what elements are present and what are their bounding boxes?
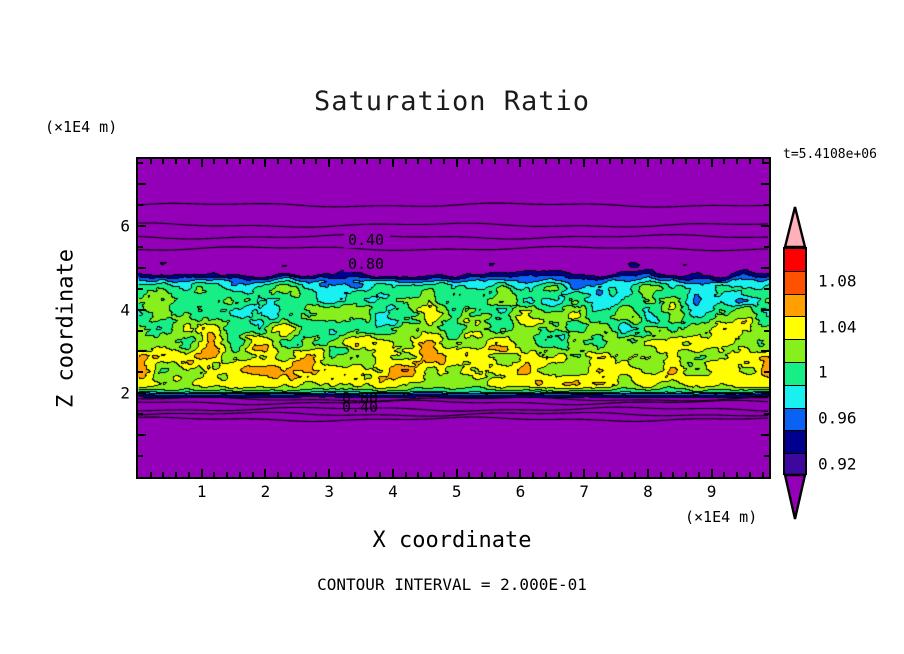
x-axis-tick bbox=[341, 472, 343, 477]
x-axis-tick bbox=[749, 159, 751, 164]
colorbar-under-arrow-icon bbox=[783, 473, 807, 521]
x-axis-tick bbox=[252, 472, 254, 477]
x-axis-tick bbox=[417, 472, 419, 477]
y-axis-tick bbox=[761, 183, 769, 185]
y-axis-title: Z coordinate bbox=[54, 219, 79, 439]
y-tick-label: 6 bbox=[112, 216, 130, 235]
x-axis-tick bbox=[379, 159, 381, 164]
x-axis-tick bbox=[239, 472, 241, 477]
x-axis-tick bbox=[519, 159, 521, 167]
x-axis-tick bbox=[290, 159, 292, 164]
x-axis-tick bbox=[494, 472, 496, 477]
y-axis-tick bbox=[761, 434, 769, 436]
y-axis-tick bbox=[761, 350, 769, 352]
y-axis-tick bbox=[764, 246, 769, 248]
x-axis-tick bbox=[366, 159, 368, 164]
x-axis-tick bbox=[583, 469, 585, 477]
x-axis-tick bbox=[736, 159, 738, 164]
colorbar-tick-label: 1.04 bbox=[818, 317, 857, 336]
colorbar-tick-label: 1.08 bbox=[818, 272, 857, 291]
x-axis-tick bbox=[213, 159, 215, 164]
x-axis-tick bbox=[328, 159, 330, 167]
x-axis-tick bbox=[456, 159, 458, 167]
colorbar-band bbox=[785, 295, 805, 318]
x-axis-tick bbox=[392, 469, 394, 477]
y-axis-tick bbox=[764, 413, 769, 415]
page-title: Saturation Ratio bbox=[0, 86, 904, 117]
colorbar[interactable]: 1.081.0410.960.92 bbox=[782, 205, 902, 525]
y-tick-label: 4 bbox=[112, 300, 130, 319]
x-axis-tick bbox=[609, 159, 611, 164]
colorbar-band bbox=[785, 272, 805, 295]
x-axis-tick bbox=[392, 159, 394, 167]
x-axis-tick bbox=[609, 472, 611, 477]
x-axis-tick bbox=[481, 472, 483, 477]
x-axis-tick bbox=[290, 472, 292, 477]
x-axis-tick bbox=[303, 472, 305, 477]
y-axis-tick bbox=[138, 288, 143, 290]
x-axis-tick bbox=[672, 159, 674, 164]
contour-value-label: 0.40 bbox=[348, 231, 384, 249]
x-axis-tick bbox=[723, 472, 725, 477]
y-axis-tick bbox=[764, 288, 769, 290]
colorbar-tick-label: 1 bbox=[818, 363, 828, 382]
x-tick-label: 2 bbox=[261, 482, 271, 501]
y-axis-tick bbox=[138, 267, 146, 269]
x-axis-tick bbox=[621, 159, 623, 164]
x-axis-tick bbox=[596, 159, 598, 164]
contour-plot-area[interactable] bbox=[136, 157, 771, 479]
colorbar-bands[interactable] bbox=[783, 247, 807, 475]
x-axis-tick bbox=[481, 159, 483, 164]
x-axis-tick bbox=[315, 472, 317, 477]
x-axis-tick bbox=[162, 472, 164, 477]
time-stamp-label: t=5.4108e+06 bbox=[783, 147, 877, 162]
x-axis-tick bbox=[315, 159, 317, 164]
x-axis-tick bbox=[213, 472, 215, 477]
x-axis-title: X coordinate bbox=[0, 528, 904, 553]
x-axis-tick bbox=[405, 159, 407, 164]
y-axis-tick bbox=[138, 330, 143, 332]
y-axis-tick bbox=[138, 413, 143, 415]
x-axis-tick bbox=[545, 472, 547, 477]
colorbar-tick-label: 0.96 bbox=[818, 409, 857, 428]
x-axis-tick bbox=[188, 472, 190, 477]
x-axis-tick bbox=[150, 159, 152, 164]
y-axis-tick bbox=[764, 330, 769, 332]
x-axis-tick bbox=[698, 159, 700, 164]
y-axis-tick bbox=[761, 267, 769, 269]
x-axis-tick bbox=[507, 159, 509, 164]
x-axis-tick bbox=[277, 472, 279, 477]
y-axis-tick bbox=[138, 204, 143, 206]
x-tick-label: 8 bbox=[643, 482, 653, 501]
x-axis-tick bbox=[175, 159, 177, 164]
contour-field-canvas bbox=[138, 159, 769, 477]
x-axis-tick bbox=[162, 159, 164, 164]
x-axis-tick bbox=[634, 472, 636, 477]
x-axis-tick bbox=[443, 472, 445, 477]
y-axis-tick bbox=[138, 455, 143, 457]
x-axis-tick bbox=[507, 472, 509, 477]
y-axis-tick bbox=[138, 225, 146, 227]
colorbar-band bbox=[785, 386, 805, 409]
x-axis-tick bbox=[366, 472, 368, 477]
x-axis-tick bbox=[354, 159, 356, 164]
x-axis-tick bbox=[647, 159, 649, 167]
colorbar-band bbox=[785, 249, 805, 272]
x-axis-tick bbox=[188, 159, 190, 164]
x-axis-tick bbox=[252, 159, 254, 164]
x-axis-tick bbox=[762, 472, 764, 477]
x-axis-tick bbox=[647, 469, 649, 477]
colorbar-band bbox=[785, 363, 805, 386]
x-axis-tick bbox=[443, 159, 445, 164]
x-axis-tick bbox=[379, 472, 381, 477]
x-tick-label: 4 bbox=[388, 482, 398, 501]
y-axis-tick bbox=[138, 350, 146, 352]
y-axis-tick bbox=[764, 371, 769, 373]
colorbar-band bbox=[785, 317, 805, 340]
x-axis-tick bbox=[570, 159, 572, 164]
x-axis-tick bbox=[303, 159, 305, 164]
x-axis-tick bbox=[226, 472, 228, 477]
contour-value-label: 0.40 bbox=[342, 398, 378, 416]
x-axis-tick bbox=[634, 159, 636, 164]
y-axis-tick bbox=[138, 162, 143, 164]
y-axis-tick bbox=[761, 225, 769, 227]
x-axis-tick bbox=[685, 472, 687, 477]
x-axis-tick bbox=[239, 159, 241, 164]
x-axis-tick bbox=[749, 472, 751, 477]
x-axis-tick bbox=[264, 159, 266, 167]
x-axis-tick bbox=[596, 472, 598, 477]
contour-interval-caption: CONTOUR INTERVAL = 2.000E-01 bbox=[0, 575, 904, 594]
y-axis-tick bbox=[138, 183, 146, 185]
x-axis-tick bbox=[660, 472, 662, 477]
x-axis-tick bbox=[201, 159, 203, 167]
y-axis-tick bbox=[761, 392, 769, 394]
x-axis-tick bbox=[430, 472, 432, 477]
x-axis-tick bbox=[468, 159, 470, 164]
x-axis-tick bbox=[698, 472, 700, 477]
x-tick-label: 6 bbox=[516, 482, 526, 501]
x-axis-tick bbox=[660, 159, 662, 164]
x-axis-tick bbox=[711, 159, 713, 167]
y-axis-tick bbox=[138, 371, 143, 373]
x-axis-tick bbox=[672, 472, 674, 477]
x-axis-tick bbox=[583, 159, 585, 167]
x-axis-tick bbox=[341, 159, 343, 164]
x-axis-tick bbox=[723, 159, 725, 164]
x-axis-tick bbox=[328, 469, 330, 477]
x-axis-tick bbox=[621, 472, 623, 477]
x-axis-unit-label: (×1E4 m) bbox=[685, 508, 757, 526]
x-axis-tick bbox=[277, 159, 279, 164]
x-tick-label: 5 bbox=[452, 482, 462, 501]
contour-value-label: 0.80 bbox=[348, 255, 384, 273]
y-axis-tick bbox=[138, 246, 143, 248]
x-axis-tick bbox=[201, 469, 203, 477]
colorbar-band bbox=[785, 409, 805, 432]
x-axis-tick bbox=[558, 159, 560, 164]
x-axis-tick bbox=[532, 472, 534, 477]
x-axis-tick bbox=[405, 472, 407, 477]
y-tick-label: 2 bbox=[112, 384, 130, 403]
x-axis-tick bbox=[570, 472, 572, 477]
y-axis-tick bbox=[138, 392, 146, 394]
x-axis-tick bbox=[226, 159, 228, 164]
x-axis-tick bbox=[354, 472, 356, 477]
x-axis-tick bbox=[558, 472, 560, 477]
x-axis-tick bbox=[430, 159, 432, 164]
x-axis-tick bbox=[494, 159, 496, 164]
colorbar-band bbox=[785, 431, 805, 454]
x-axis-tick bbox=[150, 472, 152, 477]
colorbar-tick-label: 0.92 bbox=[818, 454, 857, 473]
x-axis-tick bbox=[711, 469, 713, 477]
y-axis-tick bbox=[761, 309, 769, 311]
y-axis-tick bbox=[764, 204, 769, 206]
y-axis-unit-label: (×1E4 m) bbox=[45, 118, 117, 136]
x-axis-tick bbox=[519, 469, 521, 477]
x-axis-tick bbox=[175, 472, 177, 477]
y-axis-tick bbox=[764, 455, 769, 457]
y-axis-tick bbox=[138, 309, 146, 311]
y-axis-tick bbox=[764, 162, 769, 164]
x-axis-tick bbox=[264, 469, 266, 477]
x-tick-label: 7 bbox=[579, 482, 589, 501]
x-tick-label: 9 bbox=[707, 482, 717, 501]
x-axis-tick bbox=[685, 159, 687, 164]
x-tick-label: 1 bbox=[197, 482, 207, 501]
colorbar-over-arrow-icon bbox=[783, 205, 807, 249]
y-axis-tick bbox=[138, 434, 146, 436]
x-axis-tick bbox=[545, 159, 547, 164]
x-axis-tick bbox=[532, 159, 534, 164]
x-axis-tick bbox=[468, 472, 470, 477]
x-axis-tick bbox=[417, 159, 419, 164]
x-axis-tick bbox=[736, 472, 738, 477]
x-axis-tick bbox=[456, 469, 458, 477]
x-tick-label: 3 bbox=[324, 482, 334, 501]
colorbar-band bbox=[785, 340, 805, 363]
